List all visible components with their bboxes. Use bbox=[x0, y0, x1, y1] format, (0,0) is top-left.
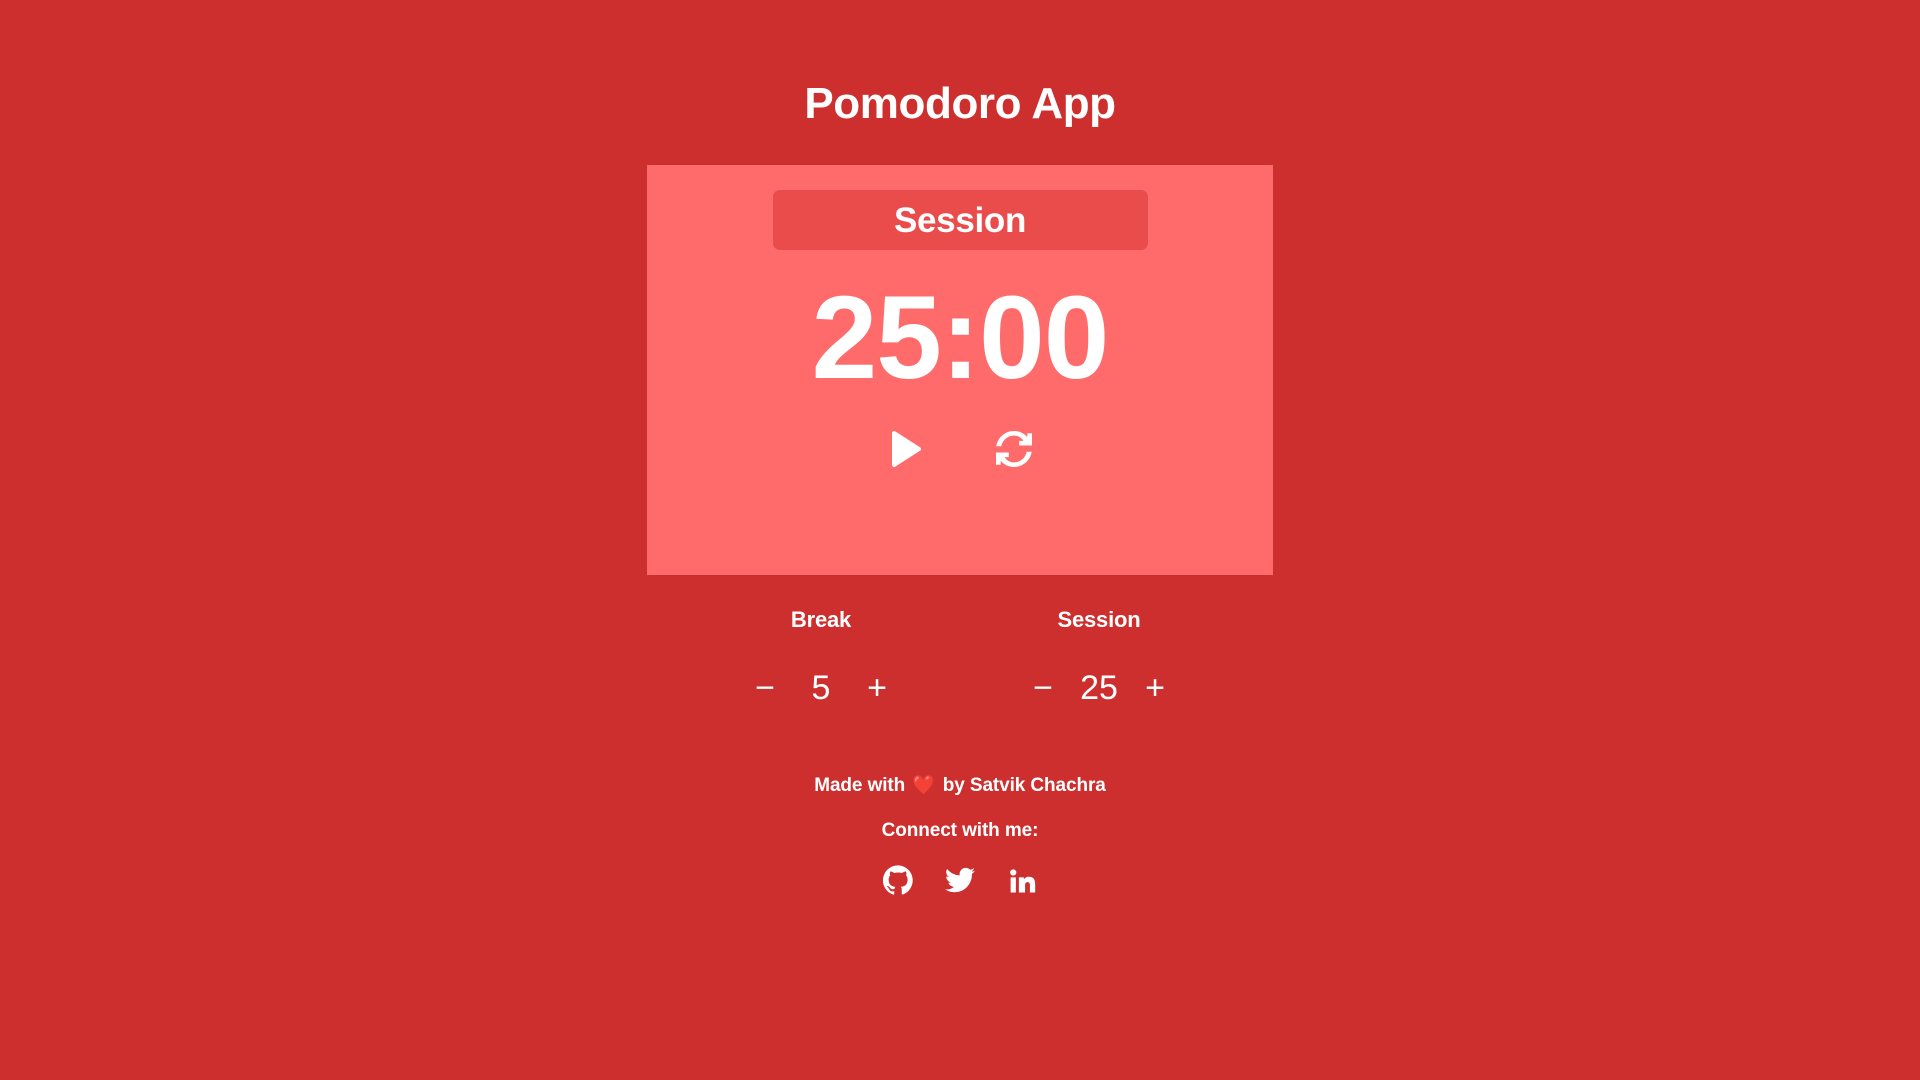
twitter-link[interactable] bbox=[943, 863, 977, 897]
break-value: 5 bbox=[800, 671, 842, 705]
github-icon bbox=[883, 865, 913, 895]
pomodoro-app: Pomodoro App Session 25:00 bbox=[0, 0, 1920, 1080]
settings-steppers-row: − 5 + − 25 + bbox=[647, 671, 1273, 705]
page-title: Pomodoro App bbox=[804, 82, 1115, 126]
session-label: Session bbox=[1024, 609, 1174, 631]
linkedin-link[interactable] bbox=[1005, 863, 1039, 897]
timer-mode-label: Session bbox=[773, 190, 1148, 250]
linkedin-icon bbox=[1007, 865, 1037, 895]
break-stepper: − 5 + bbox=[746, 671, 896, 705]
reset-button[interactable] bbox=[991, 426, 1037, 472]
break-decrement-button[interactable]: − bbox=[752, 671, 778, 705]
session-increment-button[interactable]: + bbox=[1142, 671, 1168, 705]
connect-label: Connect with me: bbox=[882, 821, 1039, 840]
start-pause-button[interactable] bbox=[883, 426, 929, 472]
heart-icon: ❤️ bbox=[912, 776, 936, 795]
refresh-icon bbox=[994, 430, 1034, 468]
timer-mode-label-text: Session bbox=[894, 203, 1026, 238]
made-with-credit: Made with ❤️ by Satvik Chachra bbox=[814, 776, 1106, 795]
made-with-suffix: by Satvik Chachra bbox=[943, 776, 1106, 795]
session-decrement-button[interactable]: − bbox=[1030, 671, 1056, 705]
footer: Made with ❤️ by Satvik Chachra Connect w… bbox=[814, 776, 1106, 897]
twitter-icon bbox=[944, 865, 976, 895]
social-links bbox=[881, 863, 1039, 897]
timer-controls bbox=[883, 426, 1037, 472]
github-link[interactable] bbox=[881, 863, 915, 897]
play-icon bbox=[889, 430, 923, 468]
timer-display: 25:00 bbox=[812, 272, 1109, 404]
made-with-prefix: Made with bbox=[814, 776, 905, 795]
timer-card: Session 25:00 bbox=[647, 165, 1273, 575]
duration-settings: Break Session − 5 + − 25 + bbox=[647, 593, 1273, 705]
break-label: Break bbox=[746, 609, 896, 631]
settings-labels-row: Break Session bbox=[647, 609, 1273, 631]
break-increment-button[interactable]: + bbox=[864, 671, 890, 705]
session-value: 25 bbox=[1078, 671, 1120, 705]
session-stepper: − 25 + bbox=[1024, 671, 1174, 705]
